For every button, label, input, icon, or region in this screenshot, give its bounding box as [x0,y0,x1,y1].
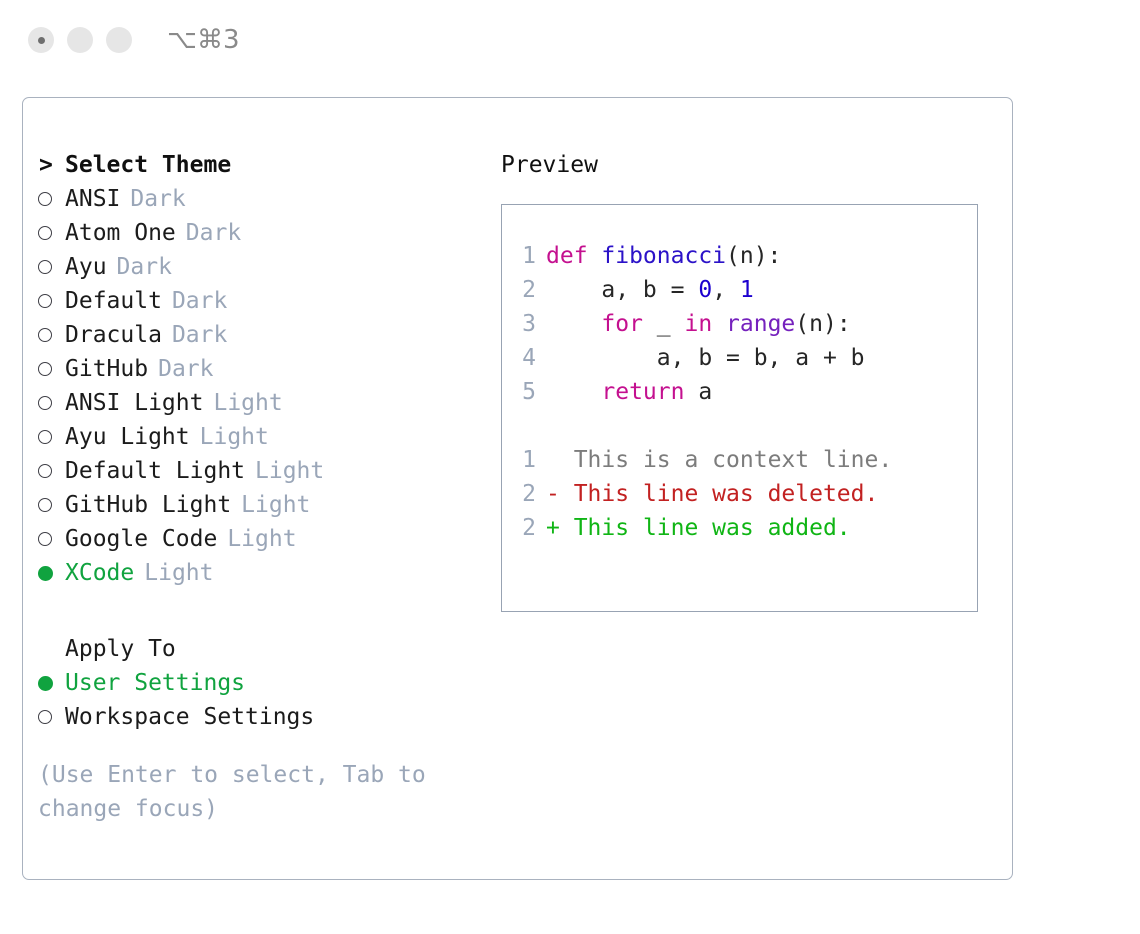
theme-option-row[interactable]: Default LightLight [38,454,488,488]
hint-spacer [38,734,488,758]
line-number: 2 [502,277,546,303]
radio-unselected-icon[interactable] [38,430,65,444]
theme-name-label: GitHub [65,356,148,382]
code-token: fibonacci [601,243,726,269]
radio-unselected-icon[interactable] [38,362,65,376]
theme-kind-label: Light [200,424,269,450]
line-number: 1 [502,447,546,473]
theme-option-row[interactable]: Atom OneDark [38,216,488,250]
code-token: def [546,243,601,269]
diff-line: 2+ This line was added. [502,511,977,545]
theme-name-label: ANSI [65,186,120,212]
window-controls [28,27,132,53]
line-number: 1 [502,243,546,269]
theme-option-row[interactable]: GitHubDark [38,352,488,386]
radio-mark [38,676,53,691]
theme-option-row[interactable]: ANSI LightLight [38,386,488,420]
code-token: in [684,311,712,337]
theme-name-label: Default [65,288,162,314]
diff-line-text: This is a context line. [574,447,893,473]
diff-line: 1 This is a context line. [502,443,977,477]
radio-unselected-icon[interactable] [38,532,65,546]
radio-mark [38,362,52,376]
diff-line-text: This line was deleted. [574,481,879,507]
code-line-text: for _ in range(n): [546,311,851,337]
line-number: 2 [502,515,546,541]
apply-to-label: User Settings [65,670,245,696]
theme-kind-label: Dark [130,186,185,212]
theme-option-row[interactable]: DraculaDark [38,318,488,352]
code-token [546,311,601,337]
code-line: 2 a, b = 0, 1 [502,273,977,307]
theme-name-label: Default Light [65,458,245,484]
theme-list-column: > Select Theme ANSIDarkAtom OneDarkAyuDa… [38,148,488,826]
line-number: 2 [502,481,546,507]
apply-to-header: Apply To [38,632,488,666]
preview-panel: 1def fibonacci(n):2 a, b = 0, 13 for _ i… [501,204,978,612]
line-number: 3 [502,311,546,337]
theme-option-row[interactable]: AyuDark [38,250,488,284]
theme-kind-label: Dark [186,220,241,246]
radio-mark [38,710,52,724]
code-token: for [601,311,643,337]
radio-mark [38,532,52,546]
code-token: _ [643,311,685,337]
code-token [546,379,601,405]
radio-mark [38,260,52,274]
radio-unselected-icon[interactable] [38,464,65,478]
code-diff-separator [502,409,977,443]
radio-mark [38,396,52,410]
theme-option-row[interactable]: XCodeLight [38,556,488,590]
code-line: 4 a, b = b, a + b [502,341,977,375]
keyboard-hint-text: (Use Enter to select, Tab to change focu… [38,758,448,826]
theme-option-row[interactable]: GitHub LightLight [38,488,488,522]
radio-unselected-icon[interactable] [38,294,65,308]
window-titlebar: ⌥⌘3 [0,0,1140,80]
theme-option-row[interactable]: ANSIDark [38,182,488,216]
code-token: (n): [726,243,781,269]
radio-mark [38,226,52,240]
apply-to-header-label: Apply To [65,636,176,662]
radio-unselected-icon[interactable] [38,328,65,342]
preview-column: Preview 1def fibonacci(n):2 a, b = 0, 13… [501,148,991,612]
traffic-light-maximize-icon[interactable] [106,27,132,53]
radio-selected-icon[interactable] [38,566,65,581]
theme-option-row[interactable]: Google CodeLight [38,522,488,556]
theme-option-row[interactable]: Ayu LightLight [38,420,488,454]
theme-name-label: Dracula [65,322,162,348]
active-dot-indicator [38,37,45,44]
theme-name-label: Ayu [65,254,107,280]
radio-unselected-icon[interactable] [38,498,65,512]
theme-name-label: GitHub Light [65,492,231,518]
apply-to-label: Workspace Settings [65,704,314,730]
radio-selected-icon[interactable] [38,676,65,691]
code-token: 1 [740,277,754,303]
traffic-light-minimize-icon[interactable] [67,27,93,53]
code-line-text: def fibonacci(n): [546,243,781,269]
theme-selector-window: > Select Theme ANSIDarkAtom OneDarkAyuDa… [22,97,1013,880]
diff-line-text: This line was added. [574,515,851,541]
theme-name-label: ANSI Light [65,390,203,416]
radio-unselected-icon[interactable] [38,710,65,724]
radio-mark [38,328,52,342]
code-line-text: a, b = b, a + b [546,345,865,371]
theme-kind-label: Dark [172,288,227,314]
code-token: return [601,379,684,405]
radio-unselected-icon[interactable] [38,192,65,206]
apply-to-option-row[interactable]: Workspace Settings [38,700,488,734]
radio-mark [38,192,52,206]
code-token: a [684,379,712,405]
radio-mark [38,566,53,581]
theme-kind-label: Light [241,492,310,518]
code-token [712,311,726,337]
theme-kind-label: Dark [158,356,213,382]
line-number: 4 [502,345,546,371]
code-line: 5 return a [502,375,977,409]
code-token: , [712,277,740,303]
diff-marker: - [546,481,574,507]
theme-kind-label: Light [255,458,324,484]
preview-title: Preview [501,148,991,182]
apply-to-option-row[interactable]: User Settings [38,666,488,700]
theme-kind-label: Light [227,526,296,552]
theme-kind-label: Light [213,390,282,416]
diff-marker: + [546,515,574,541]
apply-to-option-list: User SettingsWorkspace Settings [38,666,488,734]
radio-unselected-icon[interactable] [38,226,65,240]
theme-option-list: ANSIDarkAtom OneDarkAyuDarkDefaultDarkDr… [38,182,488,590]
theme-option-row[interactable]: DefaultDark [38,284,488,318]
diff-sample: 1 This is a context line.2- This line wa… [502,443,977,545]
code-token: a, b = [546,277,698,303]
code-line: 3 for _ in range(n): [502,307,977,341]
code-line-text: return a [546,379,712,405]
radio-unselected-icon[interactable] [38,396,65,410]
theme-name-label: Atom One [65,220,176,246]
theme-name-label: XCode [65,560,134,586]
code-token: a, b = b, a + b [546,345,865,371]
radio-mark [38,430,52,444]
diff-marker [546,447,574,473]
caret-icon: > [38,154,65,177]
theme-kind-label: Dark [172,322,227,348]
code-line: 1def fibonacci(n): [502,239,977,273]
code-sample: 1def fibonacci(n):2 a, b = 0, 13 for _ i… [502,239,977,409]
radio-mark [38,294,52,308]
theme-kind-label: Dark [117,254,172,280]
radio-unselected-icon[interactable] [38,260,65,274]
radio-mark [38,464,52,478]
keyboard-shortcut-label: ⌥⌘3 [167,25,240,55]
theme-name-label: Google Code [65,526,217,552]
select-theme-header: > Select Theme [38,148,488,182]
line-number: 5 [502,379,546,405]
theme-name-label: Ayu Light [65,424,190,450]
traffic-light-close-icon[interactable] [28,27,54,53]
radio-mark [38,498,52,512]
code-token: (n): [795,311,850,337]
select-theme-header-label: Select Theme [65,152,231,178]
theme-kind-label: Light [144,560,213,586]
code-token: range [726,311,795,337]
code-line-text: a, b = 0, 1 [546,277,754,303]
diff-line: 2- This line was deleted. [502,477,977,511]
section-spacer [38,590,488,632]
code-token: 0 [698,277,712,303]
